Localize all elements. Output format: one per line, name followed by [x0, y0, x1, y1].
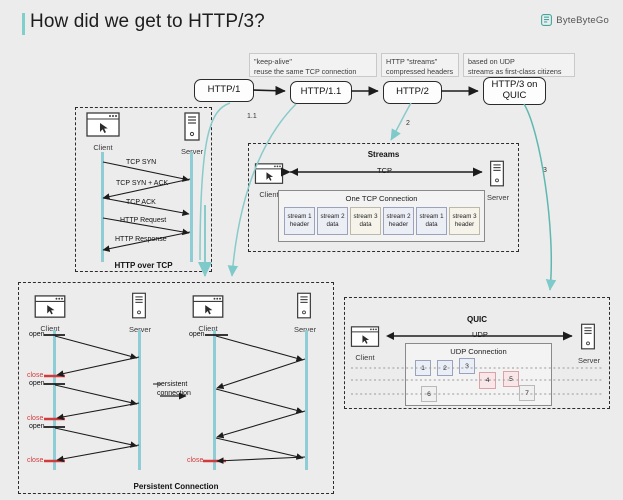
- node-http2[interactable]: HTTP/2: [383, 81, 442, 104]
- note-http2-line1: HTTP "streams": [386, 57, 454, 67]
- http-tcp-client-label: Client: [86, 143, 120, 152]
- stream-chip-line2: data: [326, 221, 338, 229]
- persistent-left-event-3: close: [27, 415, 43, 422]
- stream-chip: stream 2 header: [383, 207, 414, 235]
- persistent-left-event-1: close: [27, 372, 43, 379]
- node-http3-quic-label: HTTP/3 on QUIC: [492, 80, 538, 102]
- http-tcp-server: Server: [181, 112, 203, 156]
- quic-packet-1-label: 1: [421, 365, 425, 372]
- quic-transport-label: UDP: [470, 330, 490, 339]
- panel-streams-title: Streams: [248, 150, 519, 159]
- stream-chip-line2: data: [359, 221, 371, 229]
- brand-logo: ByteByteGo: [541, 14, 609, 26]
- link-label-1-1: 1.1: [247, 113, 257, 120]
- streams-server-label: Server: [487, 193, 509, 202]
- server-rack-icon: [578, 323, 598, 351]
- http-tcp-msg-0: TCP SYN: [126, 159, 156, 166]
- quic-packet-5-label: 5: [509, 376, 513, 383]
- browser-window-icon: [34, 295, 66, 319]
- stream-chip-line1: stream 2: [320, 213, 344, 221]
- persistent-left-event-2: open: [29, 380, 45, 387]
- quic-packet-3: 3: [459, 358, 475, 374]
- stream-chip-line2: header: [290, 221, 309, 229]
- panel-quic-title: QUIC: [344, 315, 610, 324]
- stream-chip: stream 3 header: [449, 207, 480, 235]
- node-http3-quic[interactable]: HTTP/3 on QUIC: [483, 77, 546, 105]
- node-http1-label: HTTP/1: [208, 85, 241, 96]
- http-tcp-client: Client: [86, 112, 120, 152]
- quic-packet-2-label: 2: [443, 365, 447, 372]
- persistent-annotation-line2: connection: [157, 389, 191, 398]
- streams-server: Server: [487, 160, 509, 202]
- stream-chip-line2: header: [389, 221, 408, 229]
- link-label-2: 2: [406, 120, 410, 127]
- note-http2: HTTP "streams" compressed headers: [381, 53, 459, 77]
- note-http11: "keep-alive" reuse the same TCP connecti…: [249, 53, 377, 77]
- title-accent-bar: [22, 13, 25, 35]
- quic-packet-4: 4: [479, 372, 496, 389]
- arrow-http1-http11: [253, 90, 285, 91]
- stream-chip: stream 2 data: [317, 207, 348, 235]
- panel-persistent-connection-title: Persistent Connection: [18, 482, 334, 491]
- browser-window-icon: [192, 295, 224, 319]
- node-http11[interactable]: HTTP/1.1: [290, 81, 352, 104]
- browser-window-icon: [254, 163, 284, 185]
- quic-packet-4-label: 4: [486, 377, 490, 384]
- udp-connection-title: UDP Connection: [405, 347, 552, 356]
- curve-http3-to-quic: [524, 104, 551, 290]
- note-http3-line1: based on UDP: [468, 57, 570, 67]
- server-rack-icon: [294, 292, 314, 320]
- persistent-left-event-0: open: [29, 331, 45, 338]
- quic-packet-3-label: 3: [465, 363, 469, 370]
- persistent-left-event-4: open: [29, 423, 45, 430]
- node-http11-label: HTTP/1.1: [301, 87, 342, 98]
- http-tcp-msg-2: TCP ACK: [126, 199, 156, 206]
- server-rack-icon: [129, 292, 149, 320]
- persistent-right-event-1: close: [187, 457, 203, 464]
- server-rack-icon: [181, 112, 203, 142]
- node-http1[interactable]: HTTP/1: [194, 79, 254, 102]
- note-http3: based on UDP streams as first-class citi…: [463, 53, 575, 77]
- persistent-right-server-lifeline: [305, 330, 308, 470]
- one-tcp-connection-title: One TCP Connection: [278, 194, 485, 203]
- stream-chip-line1: stream 3: [452, 213, 476, 221]
- note-http2-line2: compressed headers: [386, 67, 454, 77]
- quic-server-label: Server: [578, 356, 600, 365]
- stream-chip-list: stream 1 header stream 2 data stream 3 d…: [284, 207, 480, 235]
- quic-client: Client: [350, 326, 380, 362]
- quic-server: Server: [578, 323, 600, 365]
- persistent-left-client-lifeline: [53, 330, 56, 470]
- server-rack-icon: [487, 160, 507, 188]
- note-http11-line1: "keep-alive": [254, 57, 372, 67]
- stream-chip-line2: data: [425, 221, 437, 229]
- bytebytego-logo-icon: [541, 14, 552, 26]
- stream-chip: stream 3 data: [350, 207, 381, 235]
- quic-packet-6: 6: [421, 386, 437, 402]
- stream-chip-line1: stream 1: [419, 213, 443, 221]
- quic-packet-7: 7: [519, 385, 535, 401]
- stream-chip-line1: stream 1: [287, 213, 311, 221]
- quic-packet-6-label: 6: [427, 391, 431, 398]
- persistent-right-event-0: open: [189, 331, 205, 338]
- quic-client-label: Client: [350, 353, 380, 362]
- stream-chip: stream 1 data: [416, 207, 447, 235]
- http-tcp-server-lifeline: [190, 152, 193, 262]
- stream-chip-line1: stream 2: [386, 213, 410, 221]
- stream-chip-line1: stream 3: [353, 213, 377, 221]
- browser-window-icon: [86, 112, 120, 138]
- persistent-annotation-line1: persistent: [157, 380, 191, 389]
- quic-packet-2: 2: [437, 360, 453, 376]
- http-tcp-msg-4: HTTP Response: [115, 236, 167, 243]
- persistent-left-event-5: close: [27, 457, 43, 464]
- stream-chip: stream 1 header: [284, 207, 315, 235]
- streams-transport-label: TCP: [375, 166, 394, 175]
- persistent-annotation: persistent connection: [157, 380, 191, 399]
- browser-window-icon: [350, 326, 380, 348]
- persistent-right-client-lifeline: [213, 330, 216, 470]
- persistent-left-server: Server: [129, 292, 151, 334]
- brand-name: ByteByteGo: [556, 15, 609, 26]
- note-http11-line2: reuse the same TCP connection: [254, 67, 372, 77]
- persistent-right-client: Client: [192, 295, 224, 333]
- quic-packet-1: 1: [415, 360, 431, 376]
- page-title: How did we get to HTTP/3?: [30, 11, 265, 33]
- persistent-left-client: Client: [34, 295, 66, 333]
- node-http2-label: HTTP/2: [396, 87, 429, 98]
- quic-packet-5: 5: [503, 371, 519, 387]
- link-label-3: 3: [543, 167, 547, 174]
- stream-chip-line2: header: [455, 221, 474, 229]
- persistent-left-server-lifeline: [138, 330, 141, 470]
- panel-http-over-tcp-title: HTTP over TCP: [75, 261, 212, 270]
- http-tcp-client-lifeline: [101, 152, 104, 262]
- persistent-right-server: Server: [294, 292, 316, 334]
- http-tcp-msg-3: HTTP Request: [120, 217, 166, 224]
- http-tcp-msg-1: TCP SYN + ACK: [116, 180, 168, 187]
- quic-packet-7-label: 7: [525, 390, 529, 397]
